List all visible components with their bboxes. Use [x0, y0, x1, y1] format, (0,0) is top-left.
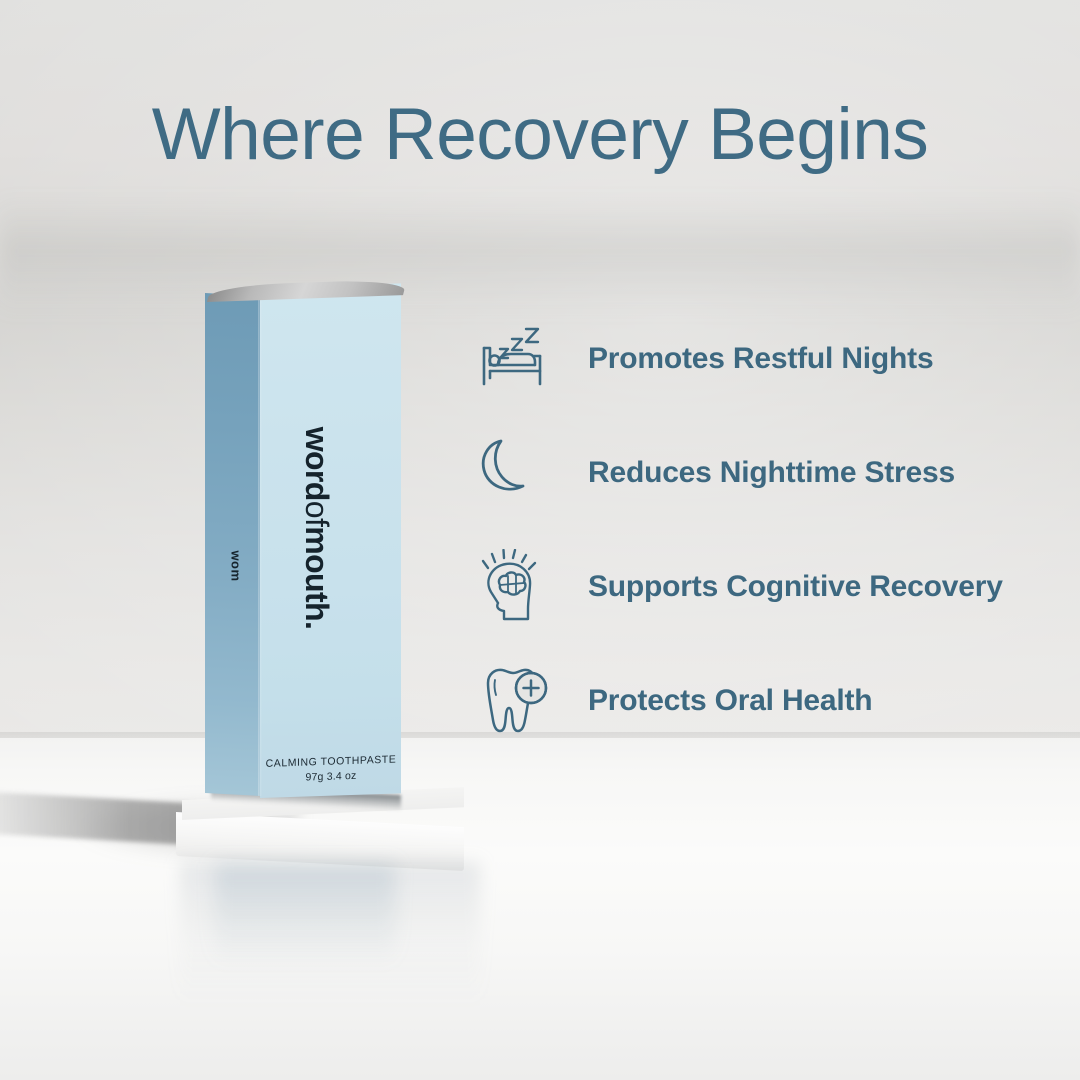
bed-zzz-icon: [470, 326, 562, 392]
backdrop-gradient-band: [0, 196, 1080, 316]
feature-item-oral-health: Protects Oral Health: [470, 644, 1050, 758]
brand-word: word: [299, 427, 335, 501]
feature-item-restful-nights: Promotes Restful Nights: [470, 302, 1050, 416]
feature-item-cognitive-recovery: Supports Cognitive Recovery: [470, 530, 1050, 644]
brand-lockup: wordofmouth.: [301, 427, 333, 630]
feature-label: Supports Cognitive Recovery: [588, 570, 1003, 604]
box-floor-reflection: [215, 864, 395, 994]
brand-of: of: [299, 501, 335, 527]
feature-label: Reduces Nighttime Stress: [588, 456, 955, 490]
feature-item-nighttime-stress: Reduces Nighttime Stress: [470, 416, 1050, 530]
box-side-mark: wom: [229, 550, 244, 581]
feature-benefit-list: Promotes Restful Nights Reduces Nighttim…: [470, 302, 1050, 758]
product-plinth: [176, 800, 464, 862]
head-brain-icon: [470, 549, 562, 625]
product-marketing-image: Where Recovery Begins wordofmouth. wom C…: [0, 0, 1080, 1080]
box-side-panel: [205, 293, 261, 796]
tooth-plus-icon: [470, 664, 562, 738]
page-title: Where Recovery Begins: [0, 96, 1080, 173]
product-box: wordofmouth. wom CALMING TOOTHPASTE 97g …: [205, 288, 401, 808]
brand-dot: .: [299, 621, 335, 629]
brand-mouth: mouth: [299, 526, 335, 621]
feature-label: Promotes Restful Nights: [588, 342, 933, 376]
crescent-moon-icon: [470, 438, 562, 508]
box-vertical-edge: [258, 292, 262, 796]
feature-label: Protects Oral Health: [588, 684, 872, 718]
box-descriptor-block: CALMING TOOTHPASTE 97g 3.4 oz: [261, 753, 401, 785]
